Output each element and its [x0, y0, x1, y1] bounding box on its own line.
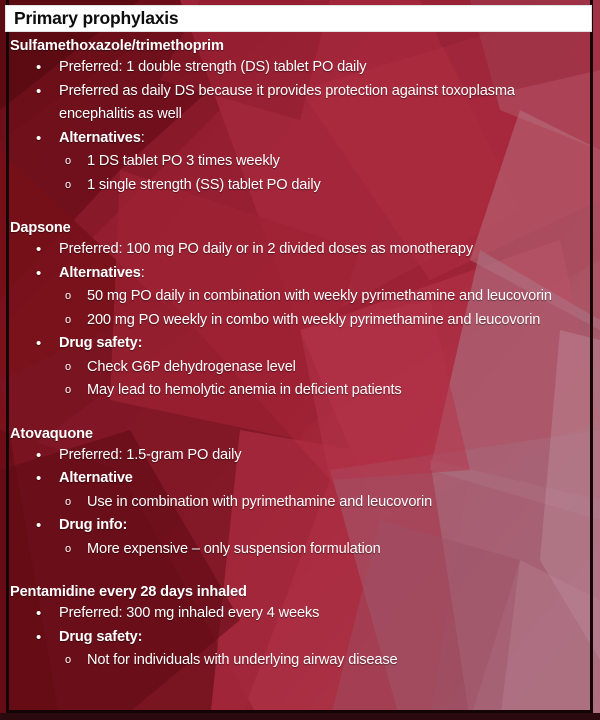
- bullet-dot-icon: •: [36, 127, 46, 151]
- sub-bullet-list: o More expensive – only suspension formu…: [59, 538, 585, 562]
- slide-title-bar: Primary prophylaxis: [5, 5, 592, 32]
- list-item-text: Preferred as daily DS because it provide…: [59, 83, 515, 123]
- list-item-text: Drug safety:: [59, 335, 142, 351]
- section-heading: Sulfamethoxazole/trimethoprim: [10, 36, 585, 56]
- bullet-dot-icon: •: [36, 56, 46, 80]
- list-item-text: Alternative: [59, 470, 133, 486]
- bullet-circle-icon: o: [65, 309, 71, 333]
- list-item: • Preferred: 300 mg inhaled every 4 week…: [10, 602, 585, 626]
- bullet-dot-icon: •: [36, 514, 46, 538]
- slide-bottom-edge: [0, 713, 600, 720]
- list-item-text: Drug info:: [59, 517, 127, 533]
- sub-list-item: o 1 single strength (SS) tablet PO daily: [59, 174, 585, 198]
- sub-bullet-list: o Use in combination with pyrimethamine …: [59, 491, 585, 515]
- section-sulfamethoxazole: Sulfamethoxazole/trimethoprim • Preferre…: [10, 36, 585, 197]
- sub-list-item: o 1 DS tablet PO 3 times weekly: [59, 150, 585, 174]
- list-item: • Alternative o Use in combination with …: [10, 467, 585, 514]
- section-spacer: [10, 561, 585, 582]
- sub-list-item: o More expensive – only suspension formu…: [59, 538, 585, 562]
- slide: Primary prophylaxis Sulfamethoxazole/tri…: [0, 0, 600, 720]
- section-heading: Atovaquone: [10, 424, 585, 444]
- list-item-text: Preferred: 1.5-gram PO daily: [59, 447, 241, 463]
- list-item: • Drug info: o More expensive – only sus…: [10, 514, 585, 561]
- list-item-text: Alternatives: [59, 130, 141, 146]
- list-item-text: Drug safety:: [59, 629, 142, 645]
- sub-list-item-text: More expensive – only suspension formula…: [87, 541, 381, 557]
- bullet-dot-icon: •: [36, 626, 46, 650]
- bullet-dot-icon: •: [36, 262, 46, 286]
- sub-list-item-text: Not for individuals with underlying airw…: [87, 652, 397, 668]
- section-atovaquone: Atovaquone • Preferred: 1.5-gram PO dail…: [10, 424, 585, 562]
- sub-list-item-text: 200 mg PO weekly in combo with weekly py…: [87, 312, 540, 328]
- section-heading: Dapsone: [10, 218, 585, 238]
- sub-list-item-text: Use in combination with pyrimethamine an…: [87, 494, 432, 510]
- list-item: • Alternatives: o 50 mg PO daily in comb…: [10, 262, 585, 333]
- sub-list-item: o 200 mg PO weekly in combo with weekly …: [59, 309, 585, 333]
- sub-list-item: o Not for individuals with underlying ai…: [59, 649, 585, 673]
- sub-bullet-list: o 1 DS tablet PO 3 times weekly o 1 sing…: [59, 150, 585, 197]
- bullet-dot-icon: •: [36, 238, 46, 262]
- sub-bullet-list: o 50 mg PO daily in combination with wee…: [59, 285, 585, 332]
- section-dapsone: Dapsone • Preferred: 100 mg PO daily or …: [10, 218, 585, 403]
- section-pentamidine: Pentamidine every 28 days inhaled • Pref…: [10, 582, 585, 673]
- list-item-suffix: :: [141, 130, 145, 146]
- slide-body: Sulfamethoxazole/trimethoprim • Preferre…: [10, 36, 585, 673]
- bullet-dot-icon: •: [36, 444, 46, 468]
- page-title: Primary prophylaxis: [6, 10, 178, 28]
- sub-list-item: o Check G6P dehydrogenase level: [59, 356, 585, 380]
- list-item: • Preferred: 1.5-gram PO daily: [10, 444, 585, 468]
- list-item: • Drug safety: o Not for individuals wit…: [10, 626, 585, 673]
- sub-list-item: o May lead to hemolytic anemia in defici…: [59, 379, 585, 403]
- bullet-circle-icon: o: [65, 356, 71, 380]
- bullet-circle-icon: o: [65, 150, 71, 174]
- bullet-dot-icon: •: [36, 80, 46, 104]
- list-item: • Alternatives: o 1 DS tablet PO 3 times…: [10, 127, 585, 198]
- bullet-circle-icon: o: [65, 491, 71, 515]
- sub-list-item-text: Check G6P dehydrogenase level: [87, 359, 296, 375]
- bullet-dot-icon: •: [36, 467, 46, 491]
- bullet-list: • Preferred: 300 mg inhaled every 4 week…: [10, 602, 585, 673]
- bullet-list: • Preferred: 1 double strength (DS) tabl…: [10, 56, 585, 197]
- bullet-circle-icon: o: [65, 538, 71, 562]
- section-spacer: [10, 403, 585, 424]
- bullet-dot-icon: •: [36, 602, 46, 626]
- sub-bullet-list: o Not for individuals with underlying ai…: [59, 649, 585, 673]
- list-item: • Preferred as daily DS because it provi…: [10, 80, 585, 127]
- list-item-text: Preferred: 300 mg inhaled every 4 weeks: [59, 605, 319, 621]
- sub-list-item-text: 50 mg PO daily in combination with weekl…: [87, 288, 552, 304]
- sub-list-item-text: May lead to hemolytic anemia in deficien…: [87, 382, 402, 398]
- bullet-circle-icon: o: [65, 649, 71, 673]
- sub-list-item: o 50 mg PO daily in combination with wee…: [59, 285, 585, 309]
- list-item-text: Alternatives: [59, 265, 141, 281]
- section-heading: Pentamidine every 28 days inhaled: [10, 582, 585, 602]
- list-item-text: Preferred: 1 double strength (DS) tablet…: [59, 59, 366, 75]
- sub-list-item: o Use in combination with pyrimethamine …: [59, 491, 585, 515]
- bullet-list: • Preferred: 1.5-gram PO daily • Alterna…: [10, 444, 585, 562]
- list-item-text: Preferred: 100 mg PO daily or in 2 divid…: [59, 241, 473, 257]
- section-spacer: [10, 197, 585, 218]
- bullet-list: • Preferred: 100 mg PO daily or in 2 div…: [10, 238, 585, 403]
- sub-list-item-text: 1 single strength (SS) tablet PO daily: [87, 177, 321, 193]
- bullet-circle-icon: o: [65, 285, 71, 309]
- bullet-circle-icon: o: [65, 174, 71, 198]
- list-item-suffix: :: [141, 265, 145, 281]
- list-item: • Drug safety: o Check G6P dehydrogenase…: [10, 332, 585, 403]
- bullet-dot-icon: •: [36, 332, 46, 356]
- list-item: • Preferred: 1 double strength (DS) tabl…: [10, 56, 585, 80]
- sub-bullet-list: o Check G6P dehydrogenase level o May le…: [59, 356, 585, 403]
- sub-list-item-text: 1 DS tablet PO 3 times weekly: [87, 153, 280, 169]
- bullet-circle-icon: o: [65, 379, 71, 403]
- list-item: • Preferred: 100 mg PO daily or in 2 div…: [10, 238, 585, 262]
